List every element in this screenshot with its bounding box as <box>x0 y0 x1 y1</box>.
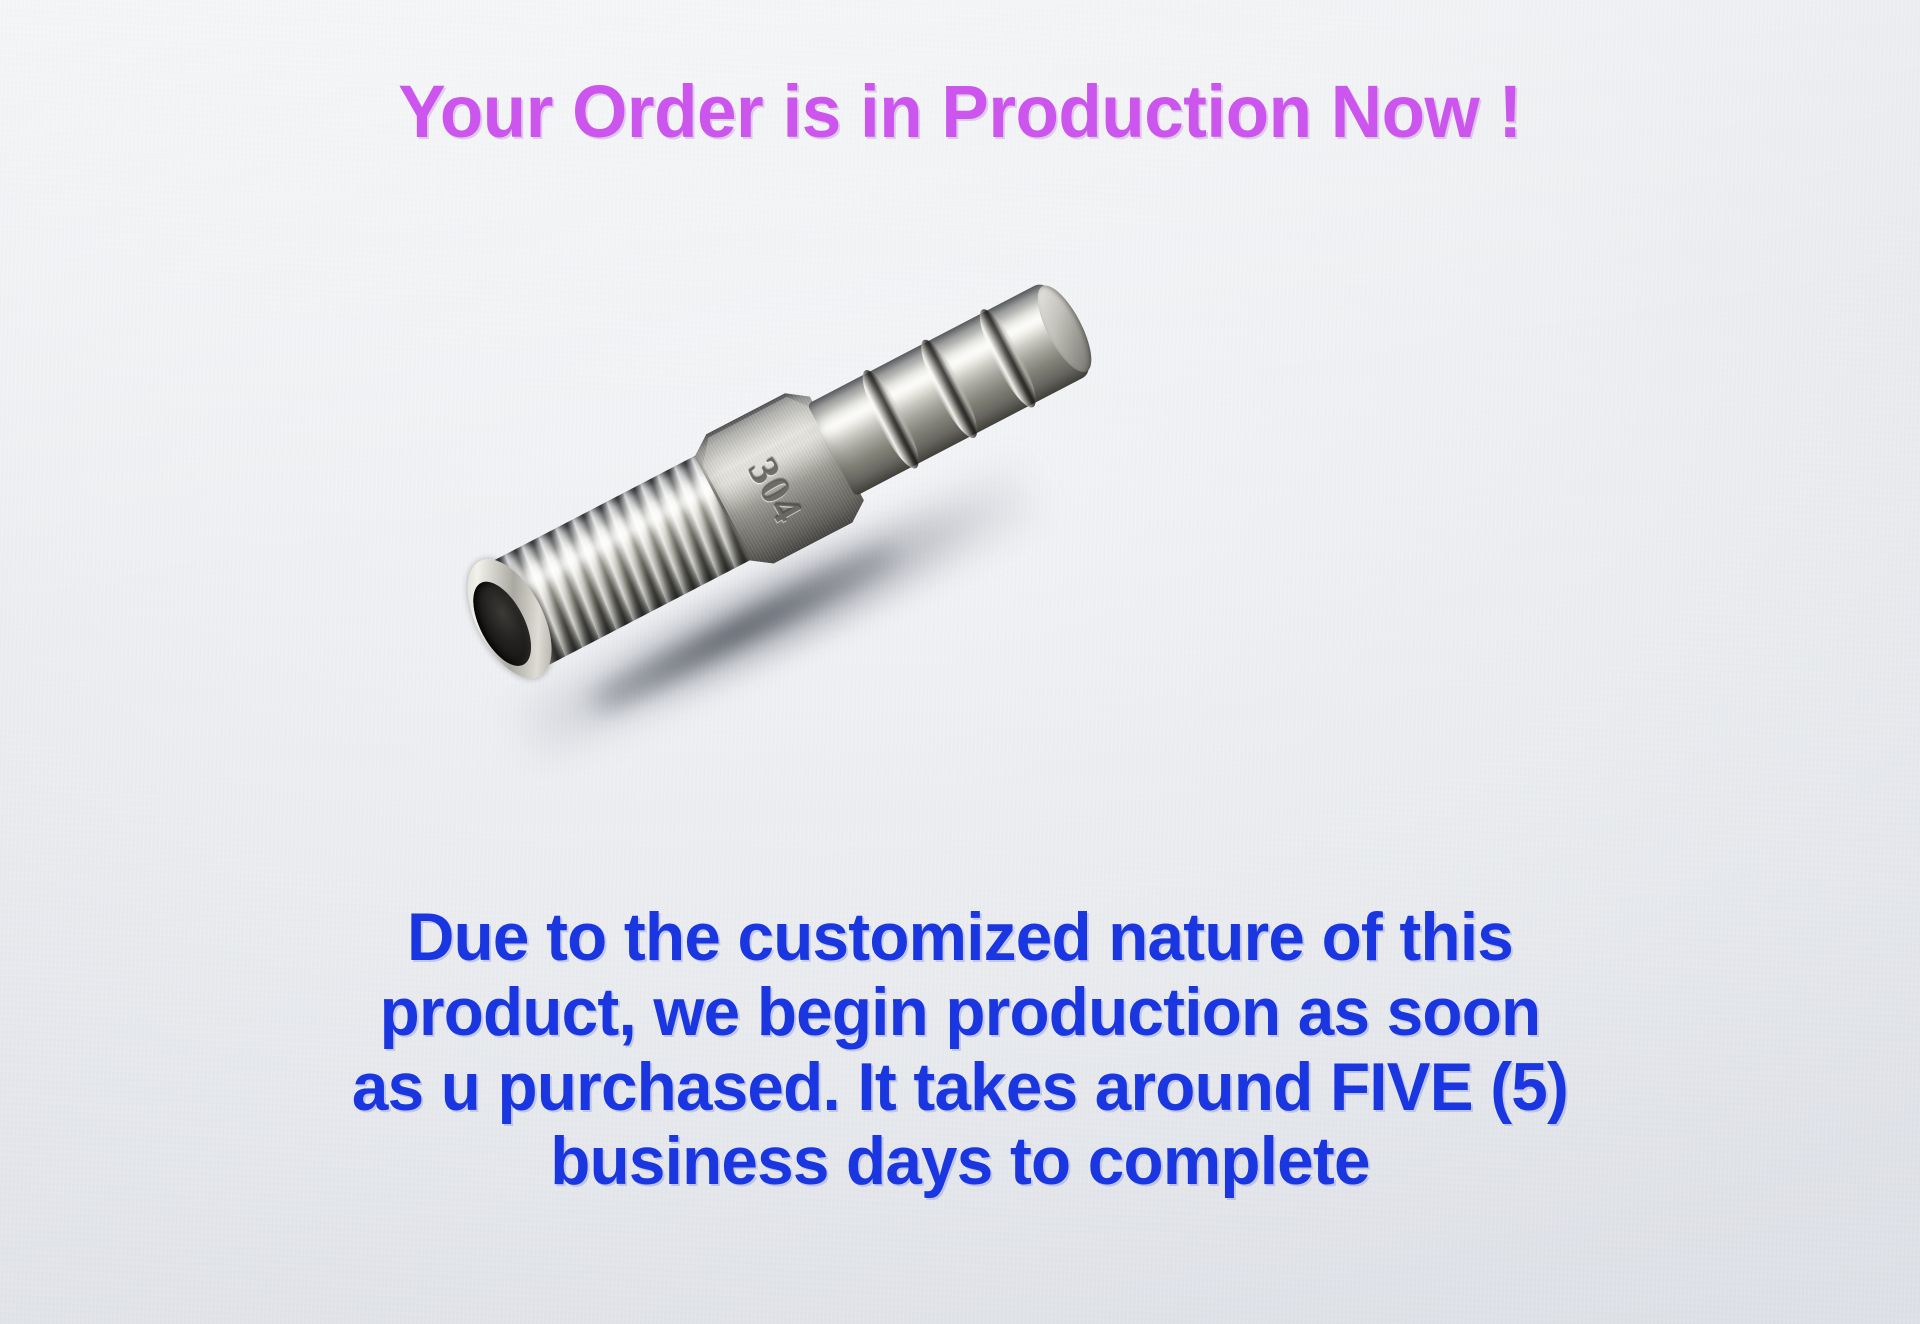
product-photo: 304 <box>430 270 1170 770</box>
production-notice-poster: Your Order is in Production Now ! <box>0 0 1920 1324</box>
message-line-1: Due to the customized nature of this <box>34 900 1887 975</box>
message-line-3: as u purchased. It takes around FIVE (5) <box>34 1050 1887 1125</box>
headline-order-in-production: Your Order is in Production Now ! <box>38 74 1881 151</box>
message-line-2: product, we begin production as soon <box>34 975 1887 1050</box>
message-line-4: business days to complete <box>34 1124 1887 1199</box>
production-lead-time-message: Due to the customized nature of this pro… <box>34 900 1887 1199</box>
